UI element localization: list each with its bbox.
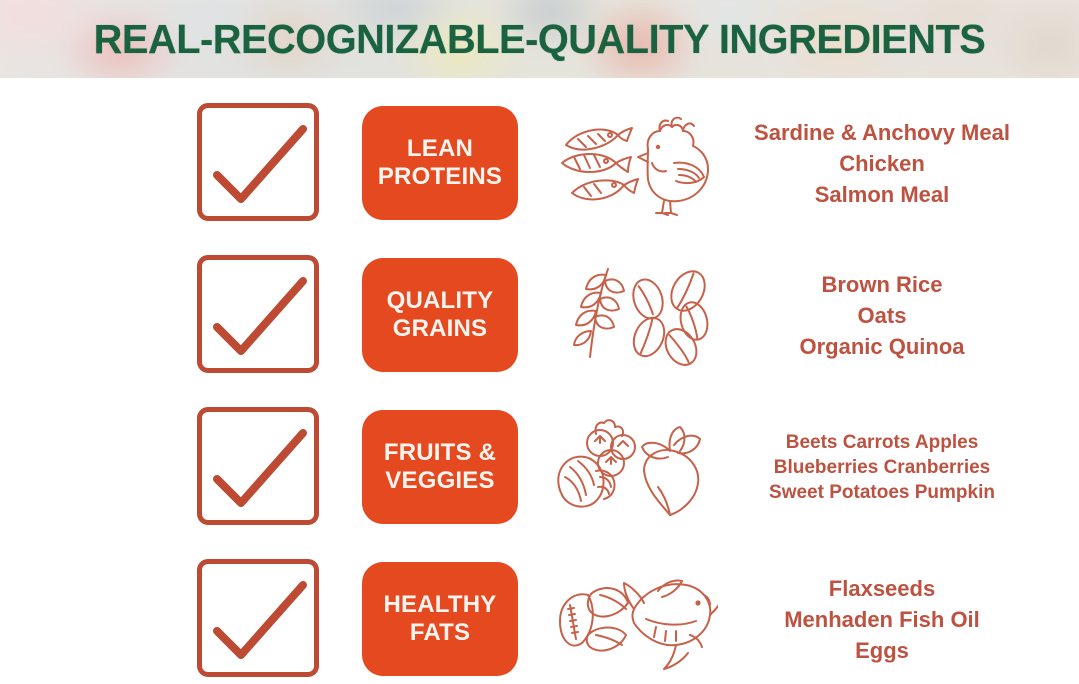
- ingredient-item: Salmon Meal: [815, 179, 949, 210]
- page-title: REAL-RECOGNIZABLE-QUALITY INGREDIENTS: [16, 0, 1063, 78]
- blueberries-sweet-potato-beet-icon: [545, 402, 720, 532]
- ingredient-item: Eggs: [855, 635, 909, 666]
- ingredient-list: Beets Carrots Apples Blueberries Cranber…: [712, 402, 1052, 532]
- seeds-and-fish-icon: [545, 554, 720, 684]
- ingredient-list: Brown Rice Oats Organic Quinoa: [712, 250, 1052, 380]
- checkbox-checked[interactable]: [197, 103, 319, 221]
- ingredient-row: LEAN PROTEINS: [0, 98, 1079, 228]
- checkbox-frame: [197, 103, 319, 221]
- ingredient-item: Sweet Potatoes Pumpkin: [769, 480, 995, 505]
- category-badge-fruits-and-veggies[interactable]: FRUITS & VEGGIES: [362, 410, 518, 524]
- ingredient-rows: LEAN PROTEINS: [0, 78, 1079, 682]
- badge-line-2: PROTEINS: [378, 163, 502, 191]
- checkbox-checked[interactable]: [197, 255, 319, 373]
- checkbox-checked[interactable]: [197, 407, 319, 525]
- badge-line-2: FATS: [410, 619, 470, 647]
- ingredient-item: Beets Carrots Apples: [786, 430, 979, 455]
- badge-line-1: LEAN: [407, 135, 473, 163]
- ingredient-item: Flaxseeds: [829, 573, 935, 604]
- badge-line-1: QUALITY: [387, 287, 494, 315]
- wheat-and-grains-icon: [545, 250, 720, 380]
- ingredient-item: Oats: [858, 300, 907, 331]
- ingredient-row: FRUITS & VEGGIES: [0, 402, 1079, 532]
- category-badge-quality-grains[interactable]: QUALITY GRAINS: [362, 258, 518, 372]
- badge-line-1: FRUITS &: [384, 439, 496, 467]
- header-banner: REAL-RECOGNIZABLE-QUALITY INGREDIENTS: [0, 0, 1079, 78]
- badge-line-2: GRAINS: [393, 315, 488, 343]
- ingredient-row: QUALITY GRAINS: [0, 250, 1079, 380]
- ingredient-item: Blueberries Cranberries: [774, 455, 991, 480]
- fish-and-chicken-icon: [545, 98, 720, 228]
- checkbox-checked[interactable]: [197, 559, 319, 677]
- badge-line-1: HEALTHY: [384, 591, 497, 619]
- checkbox-frame: [197, 255, 319, 373]
- ingredient-item: Chicken: [839, 148, 925, 179]
- ingredient-item: Sardine & Anchovy Meal: [754, 117, 1010, 148]
- badge-line-2: VEGGIES: [385, 467, 494, 495]
- ingredient-item: Organic Quinoa: [799, 331, 964, 362]
- category-badge-healthy-fats[interactable]: HEALTHY FATS: [362, 562, 518, 676]
- category-badge-lean-proteins[interactable]: LEAN PROTEINS: [362, 106, 518, 220]
- ingredient-item: Brown Rice: [821, 269, 942, 300]
- ingredient-list: Sardine & Anchovy Meal Chicken Salmon Me…: [712, 98, 1052, 228]
- checkbox-frame: [197, 407, 319, 525]
- ingredient-list: Flaxseeds Menhaden Fish Oil Eggs: [712, 554, 1052, 684]
- ingredient-item: Menhaden Fish Oil: [784, 604, 980, 635]
- ingredient-row: HEALTHY FATS: [0, 554, 1079, 684]
- checkbox-frame: [197, 559, 319, 677]
